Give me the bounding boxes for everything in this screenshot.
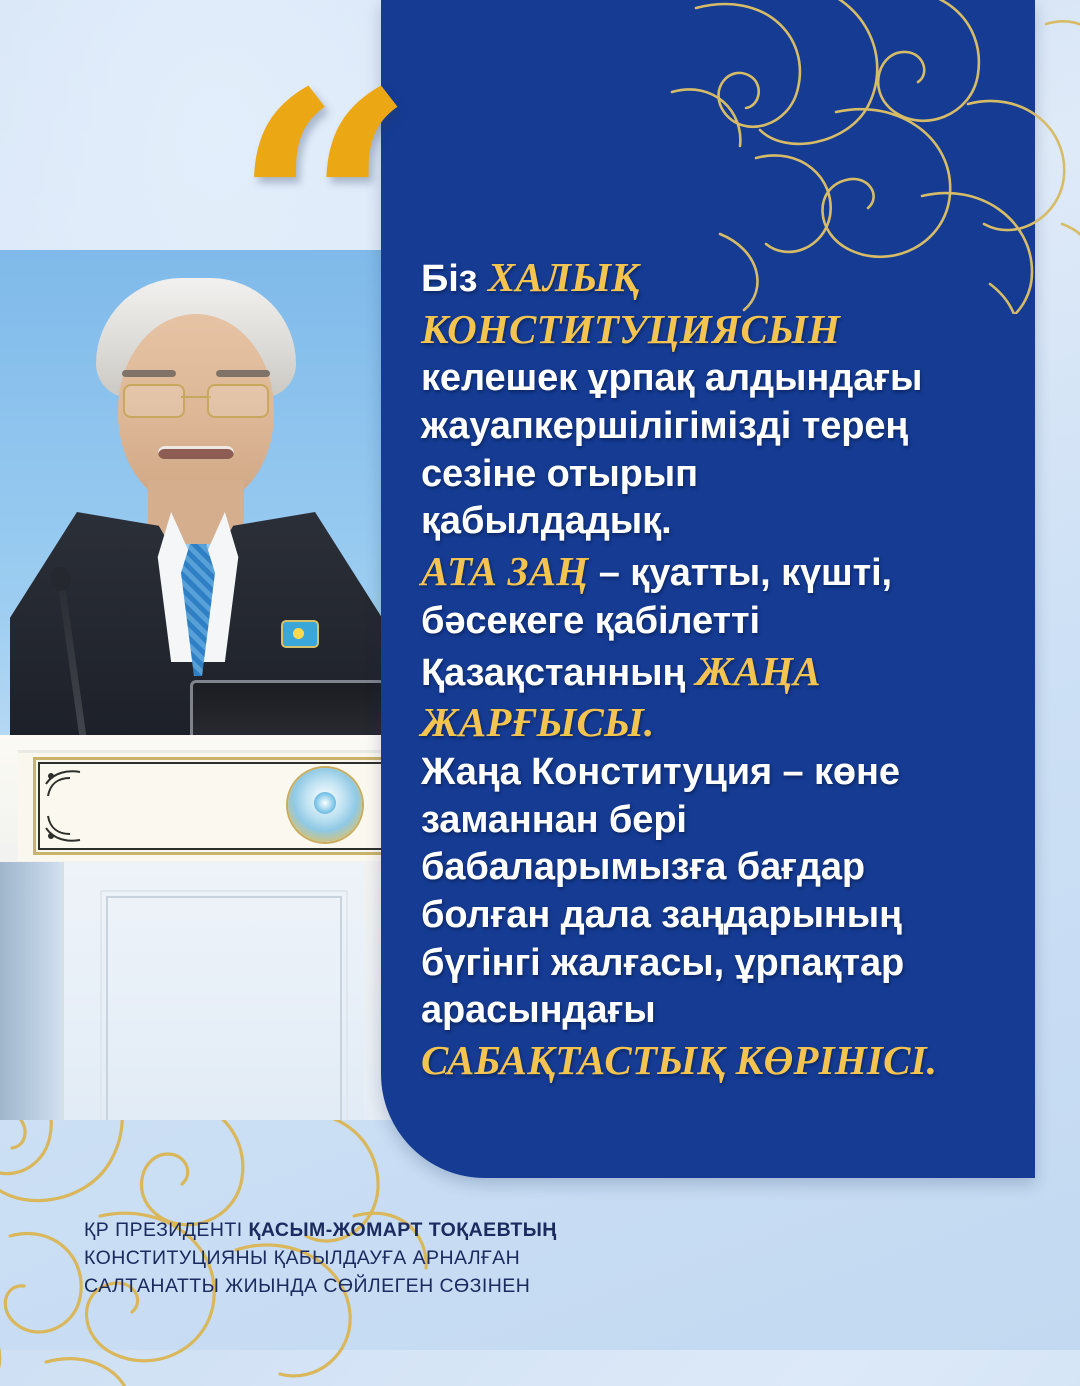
quote-line: Сабақтастық көрінісі. (421, 1035, 997, 1087)
quote-line: Жаңа Конституция – көне (421, 749, 997, 797)
quote-line: қабылдадық. (421, 498, 997, 546)
quote-line: Жарғысы. (421, 697, 997, 749)
photo-mouth (158, 446, 234, 459)
quote-run: заманнан бері (421, 799, 687, 841)
quote-line: жауапкершілігімізді терең (421, 403, 997, 451)
photo-brow-left (122, 370, 176, 377)
quote-line: заманнан бері (421, 797, 997, 845)
quote-run: Жаңа Конституция – көне (421, 751, 900, 793)
quote-emphasis: Сабақтастық көрінісі. (421, 1037, 937, 1083)
quote-line: Конституциясын (421, 304, 997, 356)
quote-line: Қазақстанның Жаңа (421, 646, 997, 698)
quote-line: Біз Халық (421, 252, 997, 304)
quote-run: – қуатты, күшті, (588, 552, 892, 594)
quote-line: бәсекеге қабілетті (421, 598, 997, 646)
quote-line: келешек ұрпақ алдындағы (421, 355, 997, 403)
quote-run: келешек ұрпақ алдындағы (421, 357, 922, 399)
photo-podium-inner-panel (106, 896, 342, 1120)
quote-line: сезіне отырып (421, 451, 997, 499)
podium-corner-ornament-2-icon (42, 802, 86, 846)
quote-emphasis: Халық (488, 254, 639, 300)
quote-line: болған дала заңдарының (421, 892, 997, 940)
quote-emphasis: Ата Заң (421, 548, 588, 594)
attribution-prefix: ҚР ПРЕЗИДЕНТІ (84, 1219, 249, 1241)
quote-emphasis: Жарғысы. (421, 699, 654, 745)
quote-line: бүгінгі жалғасы, ұрпақтар (421, 940, 997, 988)
quote-run: бәсекеге қабілетті (421, 600, 760, 642)
photo-lens-left (123, 384, 185, 418)
quote-mark-icon: “ (232, 52, 428, 212)
quote-run: бүгінгі жалғасы, ұрпақтар (421, 942, 904, 984)
quote-emphasis: Жаңа (696, 648, 821, 694)
quote-run: болған дала заңдарының (421, 894, 902, 936)
quote-run: Қазақстанның (421, 652, 696, 694)
quote-line: Ата Заң – қуатты, күшті, (421, 546, 997, 598)
attribution-line-3: САЛТАНАТТЫ ЖИЫНДА СӨЙЛЕГЕН СӨЗІНЕН (84, 1272, 724, 1300)
quote-line: бабаларымызға бағдар (421, 844, 997, 892)
quote-run: жауапкершілігімізді терең (421, 405, 908, 447)
attribution-line-2: КОНСТИТУЦИЯНЫ ҚАБЫЛДАУҒА АРНАЛҒАН (84, 1244, 724, 1272)
quote-run: қабылдадық. (421, 500, 672, 542)
kazakhstan-state-emblem-icon (288, 768, 362, 842)
quote-run: бабаларымызға бағдар (421, 846, 865, 888)
quote-text: Біз ХалықКонституциясынкелешек ұрпақ алд… (421, 252, 997, 1087)
quote-line: арасындағы (421, 987, 997, 1035)
quote-run: сезіне отырып (421, 453, 698, 495)
quote-emphasis: Конституциясын (421, 306, 840, 352)
attribution-line-1: ҚР ПРЕЗИДЕНТІ ҚАСЫМ-ЖОМАРТ ТОҚАЕВТЫҢ (84, 1216, 724, 1244)
attribution-speaker-name: ҚАСЫМ-ЖОМАРТ ТОҚАЕВТЫҢ (249, 1219, 557, 1241)
quote-panel: Біз ХалықКонституциясынкелешек ұрпақ алд… (381, 0, 1035, 1178)
attribution: ҚР ПРЕЗИДЕНТІ ҚАСЫМ-ЖОМАРТ ТОҚАЕВТЫҢ КОН… (84, 1216, 724, 1300)
quote-run: Біз (421, 258, 488, 300)
quote-run: арасындағы (421, 989, 656, 1031)
flag-lapel-pin-icon (283, 622, 317, 646)
